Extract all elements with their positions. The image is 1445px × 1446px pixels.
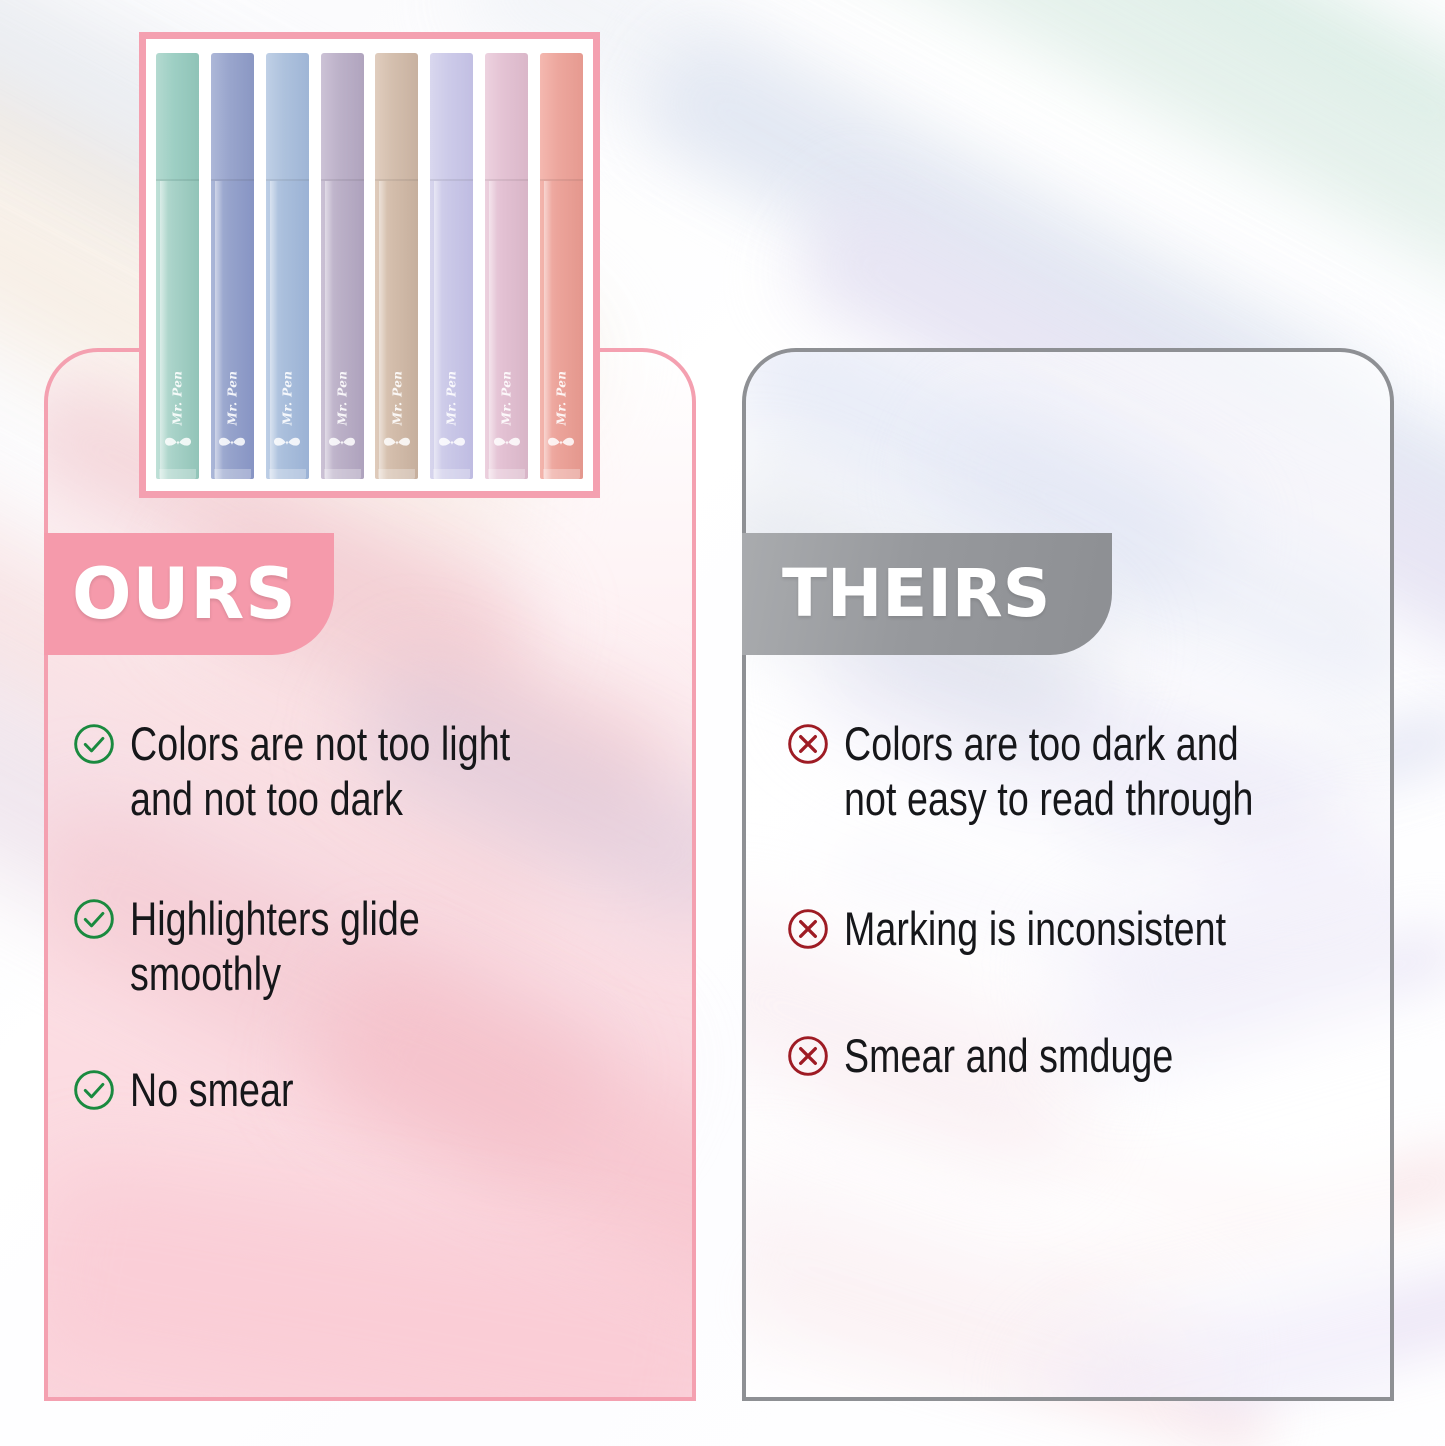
mustache-icon [165, 435, 191, 451]
pen-brand-label: Mr. Pen [390, 371, 404, 426]
list-item-label: Highlighters glide smoothly [130, 891, 564, 1002]
pen-body: Mr. Pen [266, 181, 309, 479]
pen-cap [156, 53, 199, 181]
pen-cap [266, 53, 309, 181]
check-circle-icon [72, 1068, 116, 1112]
pen-coral: Mr. Pen [540, 53, 583, 479]
list-item: No smear [72, 1062, 672, 1117]
pen-body: Mr. Pen [540, 181, 583, 479]
pen-mint-green: Mr. Pen [156, 53, 199, 479]
pen-cap [485, 53, 528, 181]
pen-soft-pink: Mr. Pen [485, 53, 528, 479]
mustache-icon [219, 435, 245, 451]
mustache-icon [494, 435, 520, 451]
pen-periwinkle-blue: Mr. Pen [211, 53, 254, 479]
mustache-icon [384, 435, 410, 451]
pen-brand-label: Mr. Pen [280, 371, 294, 426]
list-item-label: Marking is inconsistent [844, 901, 1278, 956]
pen-body: Mr. Pen [211, 181, 254, 479]
pen-light-blue: Mr. Pen [266, 53, 309, 479]
pen-body: Mr. Pen [156, 181, 199, 479]
list-item-label: Smear and smduge [844, 1028, 1278, 1083]
x-circle-icon [786, 1034, 830, 1078]
pen-body: Mr. Pen [430, 181, 473, 479]
pen-cap [375, 53, 418, 181]
list-item: Highlighters glide smoothly [72, 891, 672, 1002]
product-photo-frame: Mr. Pen Mr. Pen [139, 32, 600, 498]
pen-tan-beige: Mr. Pen [375, 53, 418, 479]
pen-cap [540, 53, 583, 181]
ours-banner: OURS [44, 533, 334, 655]
x-circle-icon [786, 722, 830, 766]
ours-banner-label: OURS [72, 559, 297, 629]
list-item: Colors are too dark and not easy to read… [786, 716, 1386, 827]
comparison-infographic: Mr. Pen Mr. Pen [0, 0, 1445, 1446]
theirs-banner-label: THEIRS [782, 561, 1050, 627]
pen-body: Mr. Pen [321, 181, 364, 479]
ours-feature-list: Colors are not too light and not too dar… [72, 716, 672, 1163]
list-item: Marking is inconsistent [786, 901, 1386, 956]
highlighter-pen-row: Mr. Pen Mr. Pen [156, 53, 583, 479]
pen-brand-label: Mr. Pen [445, 371, 459, 426]
x-circle-icon [786, 907, 830, 951]
list-item: Colors are not too light and not too dar… [72, 716, 672, 827]
pen-brand-label: Mr. Pen [500, 371, 514, 426]
pen-body: Mr. Pen [485, 181, 528, 479]
mustache-icon [548, 435, 574, 451]
pen-cap [211, 53, 254, 181]
theirs-banner: THEIRS [742, 533, 1112, 655]
pen-mauve: Mr. Pen [321, 53, 364, 479]
pen-brand-label: Mr. Pen [554, 371, 568, 426]
mustache-icon [439, 435, 465, 451]
pen-lavender: Mr. Pen [430, 53, 473, 479]
check-circle-icon [72, 897, 116, 941]
pen-cap [321, 53, 364, 181]
list-item-label: Colors are not too light and not too dar… [130, 716, 564, 827]
theirs-feature-list: Colors are too dark and not easy to read… [786, 716, 1386, 1130]
list-item-label: Colors are too dark and not easy to read… [844, 716, 1278, 827]
mustache-icon [274, 435, 300, 451]
mustache-icon [329, 435, 355, 451]
check-circle-icon [72, 722, 116, 766]
pen-brand-label: Mr. Pen [171, 371, 185, 426]
list-item-label: No smear [130, 1062, 564, 1117]
pen-brand-label: Mr. Pen [335, 371, 349, 426]
pen-cap [430, 53, 473, 181]
list-item: Smear and smduge [786, 1028, 1386, 1083]
pen-brand-label: Mr. Pen [225, 371, 239, 426]
pen-body: Mr. Pen [375, 181, 418, 479]
